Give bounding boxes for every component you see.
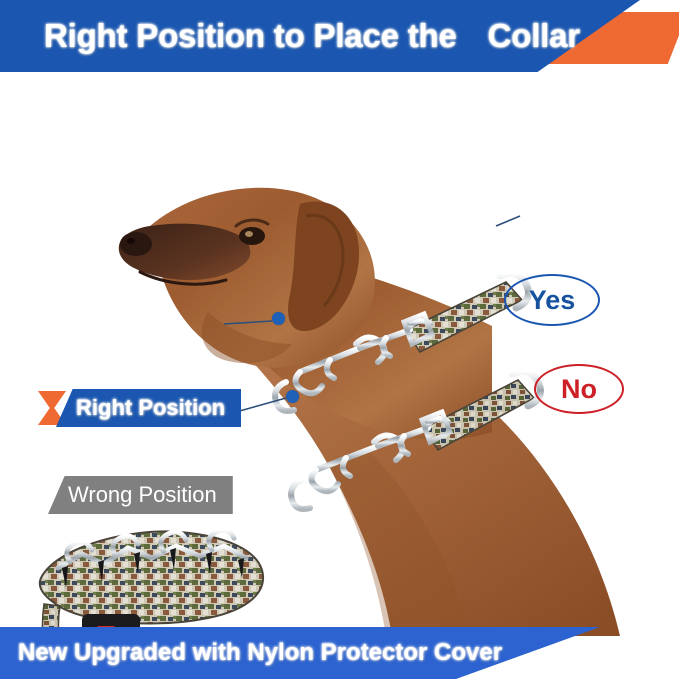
wrong-position-callout: Wrong Position bbox=[48, 476, 233, 514]
right-position-label: Right Position bbox=[76, 395, 225, 421]
right-position-callout: Right Position bbox=[38, 389, 241, 427]
connector-dot-wrong-position bbox=[286, 390, 299, 403]
page-title: Right Position to Place the Collar bbox=[22, 17, 580, 55]
page-title-accent: Collar bbox=[488, 17, 580, 54]
right-position-plate: Right Position bbox=[56, 389, 241, 427]
header-title-row: Right Position to Place the Collar bbox=[0, 0, 679, 72]
footer-banner: New Upgraded with Nylon Protector Cover bbox=[0, 627, 679, 679]
dog-with-collars-photo bbox=[0, 76, 679, 636]
product-photo-area: Yes No Right Position Wrong Position bbox=[0, 76, 679, 636]
yes-badge: Yes bbox=[504, 274, 600, 326]
no-badge: No bbox=[534, 364, 624, 414]
yes-badge-label: Yes bbox=[529, 285, 576, 316]
header-banner: Right Position to Place the Collar bbox=[0, 0, 679, 76]
infographic-canvas: Right Position to Place the Collar bbox=[0, 0, 679, 679]
connector-dot-right-position bbox=[272, 312, 285, 325]
no-badge-label: No bbox=[561, 374, 597, 405]
wrong-position-plate: Wrong Position bbox=[48, 476, 233, 514]
footer-text-row: New Upgraded with Nylon Protector Cover bbox=[0, 627, 502, 679]
dog-eye bbox=[239, 227, 265, 245]
product-collar-photo bbox=[36, 530, 263, 636]
page-title-main: Right Position to Place the bbox=[44, 17, 457, 54]
connector-line-yes-badge bbox=[496, 216, 520, 226]
wrong-position-label: Wrong Position bbox=[68, 482, 217, 508]
footer-tagline: New Upgraded with Nylon Protector Cover bbox=[18, 639, 502, 667]
dog-nose bbox=[120, 232, 152, 256]
